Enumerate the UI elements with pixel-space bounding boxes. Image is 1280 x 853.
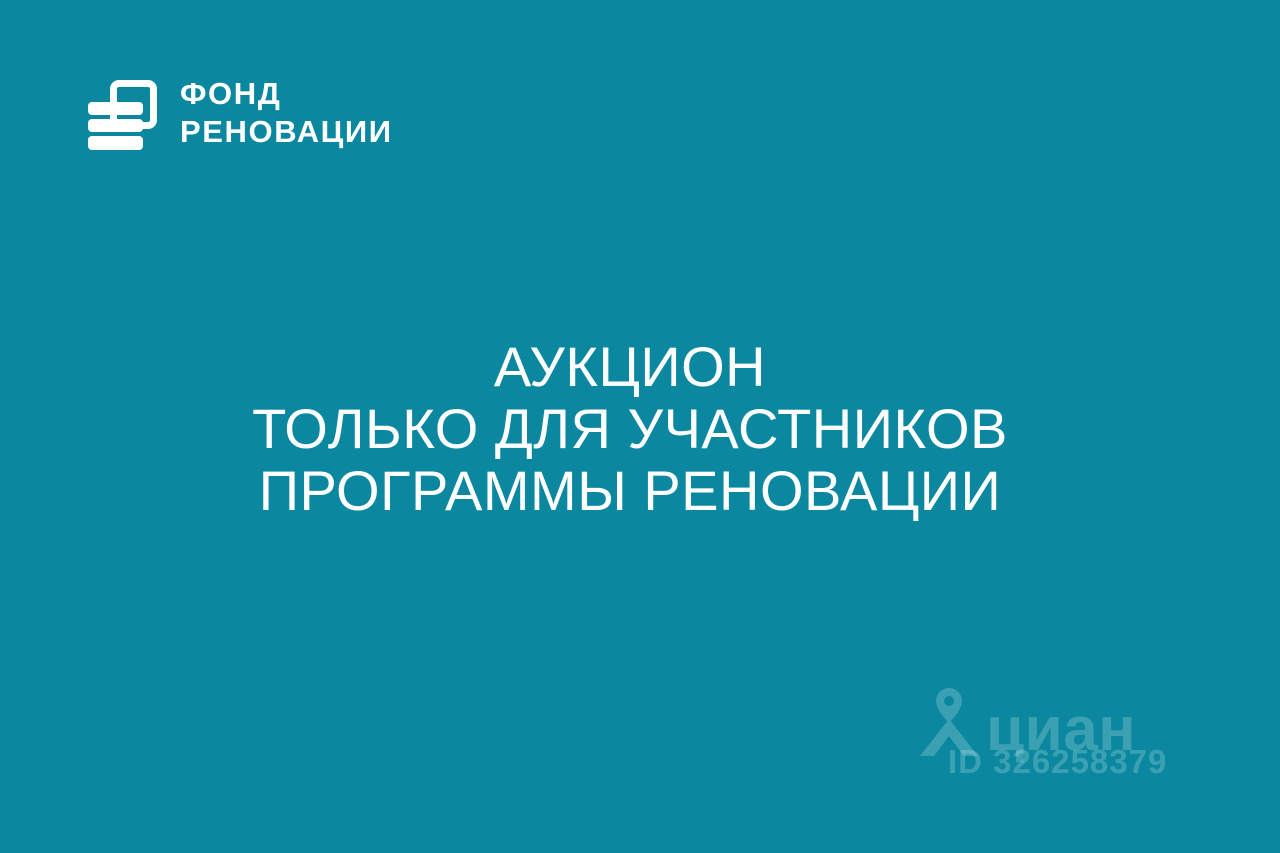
logo-stack-bar xyxy=(88,136,143,150)
brand-wordmark-line-1: ФОНД xyxy=(180,75,393,113)
logo-stack-shape xyxy=(88,102,143,150)
headline-line-1: АУКЦИОН xyxy=(0,336,1260,398)
cian-watermark: циан ID 326258379 xyxy=(918,680,1168,785)
headline-text: АУКЦИОН ТОЛЬКО ДЛЯ УЧАСТНИКОВ ПРОГРАММЫ … xyxy=(0,336,1260,522)
listing-id-label: ID 326258379 xyxy=(948,744,1167,780)
brand-wordmark-line-2: РЕНОВАЦИИ xyxy=(180,113,393,151)
brand-logo: ФОНД РЕНОВАЦИИ xyxy=(86,72,393,154)
listing-image-banner: ФОНД РЕНОВАЦИИ АУКЦИОН ТОЛЬКО ДЛЯ УЧАСТН… xyxy=(0,0,1280,853)
logo-stack-bar xyxy=(88,102,143,115)
headline-line-3: ПРОГРАММЫ РЕНОВАЦИИ xyxy=(0,460,1260,522)
brand-wordmark: ФОНД РЕНОВАЦИИ xyxy=(180,75,393,151)
logo-stack-bar xyxy=(88,119,143,132)
stacked-layers-icon xyxy=(86,72,158,154)
headline-line-2: ТОЛЬКО ДЛЯ УЧАСТНИКОВ xyxy=(0,398,1260,460)
